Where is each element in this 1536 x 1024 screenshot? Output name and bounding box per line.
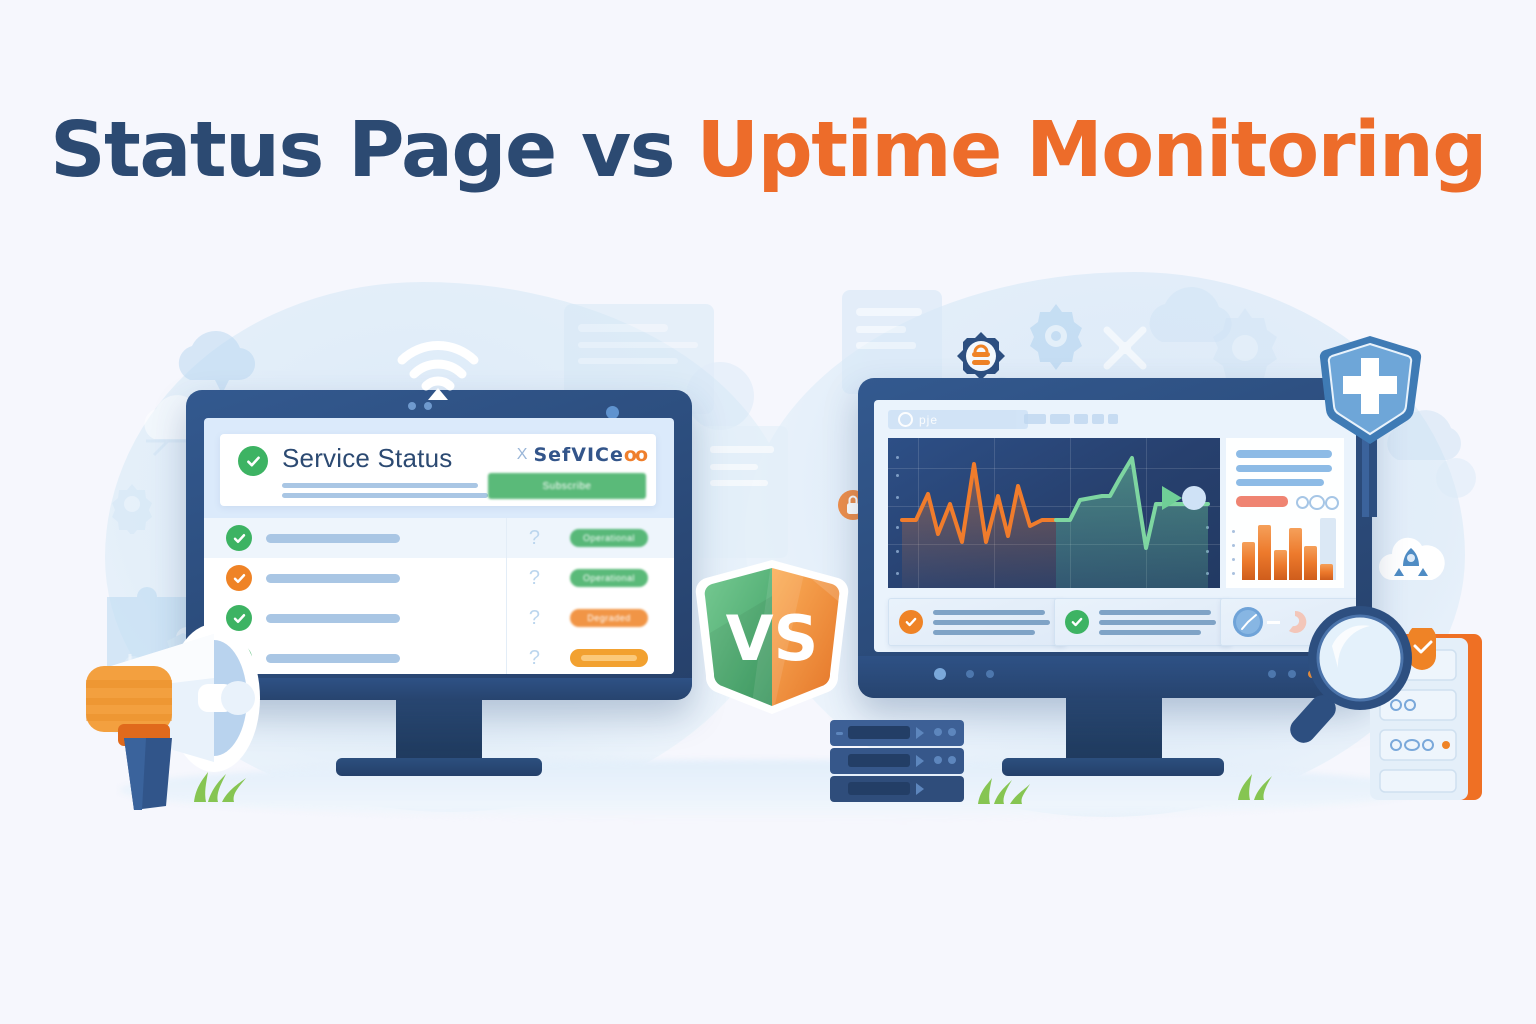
- page-title-accent: Uptime Monitoring: [697, 106, 1486, 195]
- gear-icon: [1200, 300, 1290, 390]
- wifi-icon: [392, 338, 484, 400]
- status-badge: Degraded: [570, 609, 648, 627]
- row-meta: ?: [529, 527, 540, 550]
- service-status-header-card: Service Status X SefVICe oo Subscribe: [220, 434, 656, 506]
- skeleton-bar: [1236, 479, 1324, 486]
- check-circle-icon: [238, 446, 268, 476]
- gear-badge-icon: [955, 330, 1007, 382]
- logo-x-mark: X: [517, 446, 528, 464]
- check-circle-icon: [899, 610, 923, 634]
- vs-label: VS: [726, 602, 819, 675]
- browser-tab-segment: [1050, 414, 1070, 424]
- bar: [1320, 564, 1333, 580]
- grass-decor: [972, 774, 1034, 809]
- doc-outline-icon: [690, 420, 800, 570]
- metric-card[interactable]: [888, 598, 1066, 646]
- monitor-stand-neck: [396, 700, 482, 762]
- ring-icon: [1296, 496, 1309, 509]
- power-led: [934, 668, 946, 680]
- indicator-dot: [966, 670, 974, 678]
- bar: [1258, 525, 1271, 580]
- monitor-stand-neck: [1066, 698, 1162, 762]
- highlight-bar: [1236, 496, 1288, 507]
- brand-logo-accent: oo: [624, 444, 646, 466]
- uptime-chart: [888, 438, 1220, 588]
- check-circle-icon: [1065, 610, 1089, 634]
- megaphone-icon: [62, 620, 317, 815]
- camera-dot: [408, 402, 416, 410]
- uptime-monitoring-screen: pje: [874, 400, 1356, 652]
- table-row[interactable]: ? Operational: [204, 558, 674, 599]
- magnifier-icon: [1288, 600, 1423, 740]
- metric-card[interactable]: [1054, 598, 1232, 646]
- cross-outline-icon: [1095, 318, 1155, 378]
- status-badge-progress: [570, 649, 648, 667]
- cloud-icon: [1130, 286, 1260, 362]
- header-skeleton-line: [282, 483, 478, 488]
- server-stack-icon: [826, 718, 971, 810]
- browser-tab-segment: [1024, 414, 1046, 424]
- card-skeleton-lines: [1099, 610, 1221, 635]
- gear-outline-icon: [100, 470, 164, 534]
- camera-dot: [424, 402, 432, 410]
- indicator-dot: [986, 670, 994, 678]
- brand-logo-text: SefVICe: [533, 444, 623, 466]
- indicator-dot: [1268, 670, 1276, 678]
- bar: [1289, 528, 1302, 580]
- service-status-title: Service Status: [282, 443, 488, 474]
- browser-address-bar[interactable]: pje: [888, 410, 1028, 429]
- browser-tab-segment: [1074, 414, 1088, 424]
- browser-tab-segment: [1092, 414, 1104, 424]
- row-meta: ?: [529, 607, 540, 630]
- page-title: Status Page vs Uptime Monitoring: [0, 112, 1536, 189]
- circle-icon: [898, 412, 913, 427]
- row-meta: ?: [529, 567, 540, 590]
- bar: [1304, 546, 1317, 580]
- row-meta: ?: [529, 647, 540, 670]
- gear-icon: [1020, 298, 1092, 370]
- header-skeleton-line: [282, 493, 488, 498]
- check-circle-icon: [226, 565, 252, 591]
- table-row[interactable]: ? Operational: [204, 518, 674, 559]
- monitor-stand-base: [336, 758, 542, 776]
- point-marker: [1182, 486, 1206, 510]
- browser-tab-segment: [1108, 414, 1118, 424]
- shield-health-icon: [1318, 332, 1423, 452]
- vs-badge: VS VS: [688, 556, 856, 718]
- bar: [1242, 542, 1255, 580]
- monitor-stand-base: [1002, 758, 1224, 776]
- bar: [1274, 550, 1287, 580]
- service-name-bar: [266, 534, 400, 543]
- card-skeleton-lines: [933, 610, 1055, 635]
- cloud-badge-icon: [1372, 530, 1450, 592]
- illustration-canvas: Status Page vs Uptime Monitoring Service…: [0, 0, 1536, 1024]
- grass-decor: [1232, 770, 1290, 805]
- check-circle-icon: [226, 525, 252, 551]
- subscribe-button[interactable]: Subscribe: [488, 473, 646, 499]
- service-name-bar: [266, 574, 400, 583]
- page-title-primary: Status Page vs: [50, 106, 674, 195]
- status-badge: Operational: [570, 569, 648, 587]
- status-badge: Operational: [570, 529, 648, 547]
- browser-url-text: pje: [919, 413, 938, 427]
- mini-bar-chart: [1232, 518, 1338, 580]
